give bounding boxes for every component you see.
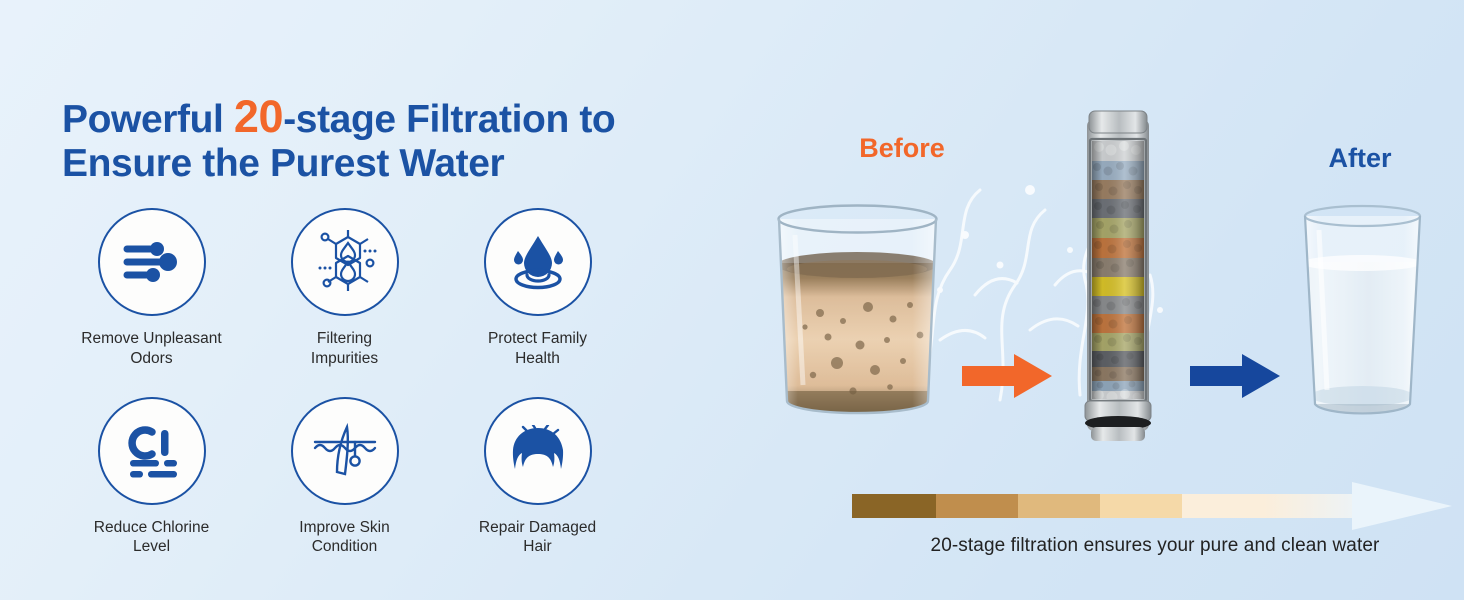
feature-icon-circle xyxy=(484,208,592,316)
purity-gradient-bar xyxy=(852,482,1452,530)
headline-pre: Powerful xyxy=(62,98,234,141)
dirty-water-glass xyxy=(765,195,950,430)
feature-icon-circle xyxy=(291,397,399,505)
molecule-filter-icon xyxy=(312,230,378,294)
feature-row-1: Remove UnpleasantOdors xyxy=(55,208,635,369)
headline-post: -stage Filtration to xyxy=(283,98,615,141)
headline-line2: Ensure the Purest Water xyxy=(62,142,504,185)
wind-odor-icon xyxy=(121,236,183,288)
arrow-after-icon xyxy=(1190,352,1280,400)
feature-label: Reduce ChlorineLevel xyxy=(94,518,209,558)
feature-icon-circle xyxy=(98,208,206,316)
headline-number: 20 xyxy=(234,91,283,142)
skin-follicle-icon xyxy=(311,422,379,480)
footnote-caption: 20-stage filtration ensures your pure an… xyxy=(845,535,1464,557)
feature-label: FilteringImpurities xyxy=(311,329,378,369)
infographic-root: Powerful 20-stage Filtration to Ensure t… xyxy=(0,0,1464,600)
feature-label: Improve SkinCondition xyxy=(299,518,389,558)
right-panel: Before After xyxy=(740,0,1464,600)
feature-row-2: Reduce ChlorineLevel xyxy=(55,397,635,558)
label-after: After xyxy=(1270,143,1450,174)
filter-cartridge xyxy=(1075,105,1161,445)
water-drop-ripple-icon xyxy=(505,232,571,292)
hair-icon xyxy=(505,425,571,477)
chlorine-cl-icon xyxy=(121,422,183,480)
feature-filtering-impurities[interactable]: FilteringImpurities xyxy=(248,208,441,369)
feature-improve-skin[interactable]: Improve SkinCondition xyxy=(248,397,441,558)
feature-label: Remove UnpleasantOdors xyxy=(81,329,221,369)
feature-label: Repair DamagedHair xyxy=(479,518,596,558)
feature-grid: Remove UnpleasantOdors xyxy=(55,208,635,557)
feature-protect-family-health[interactable]: Protect FamilyHealth xyxy=(441,208,634,369)
feature-icon-circle xyxy=(291,208,399,316)
arrow-before-icon xyxy=(962,352,1052,400)
feature-repair-hair[interactable]: Repair DamagedHair xyxy=(441,397,634,558)
feature-icon-circle xyxy=(484,397,592,505)
feature-reduce-chlorine[interactable]: Reduce ChlorineLevel xyxy=(55,397,248,558)
clean-water-glass xyxy=(1295,200,1430,432)
feature-icon-circle xyxy=(98,397,206,505)
feature-remove-odors[interactable]: Remove UnpleasantOdors xyxy=(55,208,248,369)
page-title: Powerful 20-stage Filtration to Ensure t… xyxy=(62,92,722,186)
label-before: Before xyxy=(812,133,992,164)
left-panel: Powerful 20-stage Filtration to Ensure t… xyxy=(0,0,740,600)
feature-label: Protect FamilyHealth xyxy=(488,329,587,369)
